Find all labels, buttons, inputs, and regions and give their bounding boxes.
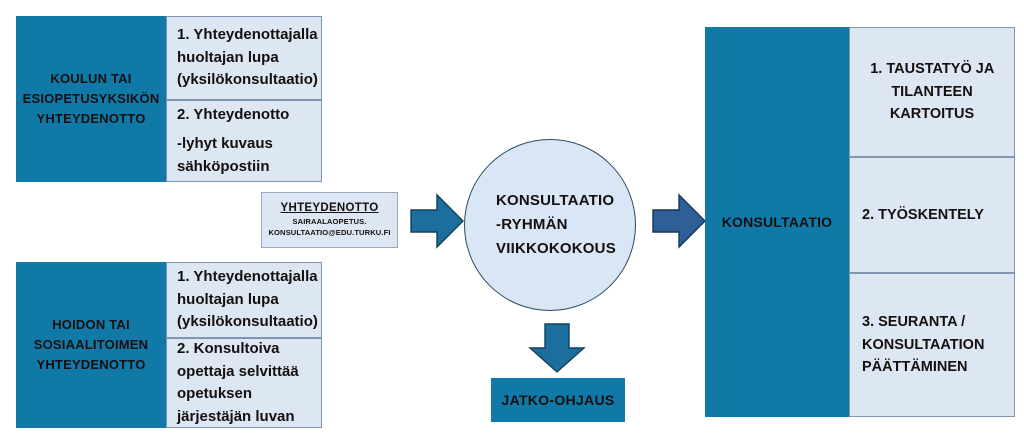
meeting-line-3: VIIKKOKOKOUS: [496, 237, 635, 261]
phase-line: TILANTEEN: [891, 84, 972, 100]
step-line: sähköpostiin: [177, 156, 289, 179]
phase-line: KARTOITUS: [890, 106, 974, 122]
outcome-box: JATKO-OHJAUS: [491, 378, 625, 422]
source-care-label-text: HOIDON TAI SOSIAALITOIMEN YHTEYDENOTTO: [16, 315, 166, 375]
source-school-label-text: KOULUN TAI ESIOPETUSYKSIKÖN YHTEYDENOTTO: [16, 69, 166, 129]
phase-line: 1. TAUSTATYÖ JA: [870, 61, 994, 77]
arrow-down-meeting-to-outcome: [526, 322, 588, 374]
step-line: 1. Yhteydenottajalla: [177, 266, 318, 289]
step-line: järjestäjän luvan: [177, 406, 299, 429]
weekly-meeting-circle: KONSULTAATIO -RYHMÄN VIIKKOKOKOUS: [464, 139, 636, 311]
outcome-label: JATKO-OHJAUS: [501, 392, 614, 408]
step-line: huoltajan lupa: [177, 289, 318, 312]
step-line: 2. Yhteydenotto: [177, 104, 289, 127]
consultation-label-text: KONSULTAATIO: [722, 214, 833, 230]
arrow-right-meeting-to-consultation: [651, 192, 707, 250]
consultation-label: KONSULTAATIO: [705, 27, 849, 417]
source-school-label: KOULUN TAI ESIOPETUSYKSIKÖN YHTEYDENOTTO: [16, 16, 166, 182]
step-line: 2. Konsultoiva: [177, 338, 299, 361]
phase-line: 2. TYÖSKENTELY: [862, 207, 984, 223]
consultation-phase-1: 1. TAUSTATYÖ JA TILANTEEN KARTOITUS: [849, 27, 1015, 157]
contact-email-line-1: SAIRAALAOPETUS.: [292, 217, 366, 227]
phase-line: 3. SEURANTA /: [862, 314, 965, 330]
step-line: huoltajan lupa: [177, 47, 318, 70]
step-line: opettaja selvittää: [177, 361, 299, 384]
step-line: 1. Yhteydenottajalla: [177, 24, 318, 47]
consultation-phase-2: 2. TYÖSKENTELY: [849, 157, 1015, 273]
step-line: opetuksen: [177, 383, 299, 406]
source-care-step-1: 1. Yhteydenottajalla huoltajan lupa (yks…: [166, 262, 322, 338]
step-line: (yksilökonsultaatio): [177, 311, 318, 334]
meeting-line-1: KONSULTAATIO: [496, 189, 635, 213]
source-school-step-1: 1. Yhteydenottajalla huoltajan lupa (yks…: [166, 16, 322, 100]
arrow-right-contact-to-meeting: [409, 192, 465, 250]
step-line: (yksilökonsultaatio): [177, 69, 318, 92]
phase-line: PÄÄTTÄMINEN: [862, 359, 968, 375]
contact-card-title: YHTEYDENOTTO: [281, 202, 379, 214]
source-care-step-2: 2. Konsultoiva opettaja selvittää opetuk…: [166, 338, 322, 428]
flowchart-canvas: KOULUN TAI ESIOPETUSYKSIKÖN YHTEYDENOTTO…: [0, 0, 1024, 444]
phase-line: KONSULTAATION: [862, 337, 984, 353]
source-school-step-2: 2. Yhteydenotto -lyhyt kuvaus sähköposti…: [166, 100, 322, 182]
meeting-line-2: -RYHMÄN: [496, 213, 635, 237]
contact-info-card: YHTEYDENOTTO SAIRAALAOPETUS. KONSULTAATI…: [261, 192, 398, 248]
source-care-label: HOIDON TAI SOSIAALITOIMEN YHTEYDENOTTO: [16, 262, 166, 428]
contact-email-line-2: KONSULTAATIO@EDU.TURKU.FI: [268, 228, 390, 238]
step-line: -lyhyt kuvaus: [177, 133, 289, 156]
step-spacer: [177, 126, 289, 133]
consultation-phase-3: 3. SEURANTA / KONSULTAATION PÄÄTTÄMINEN: [849, 273, 1015, 417]
